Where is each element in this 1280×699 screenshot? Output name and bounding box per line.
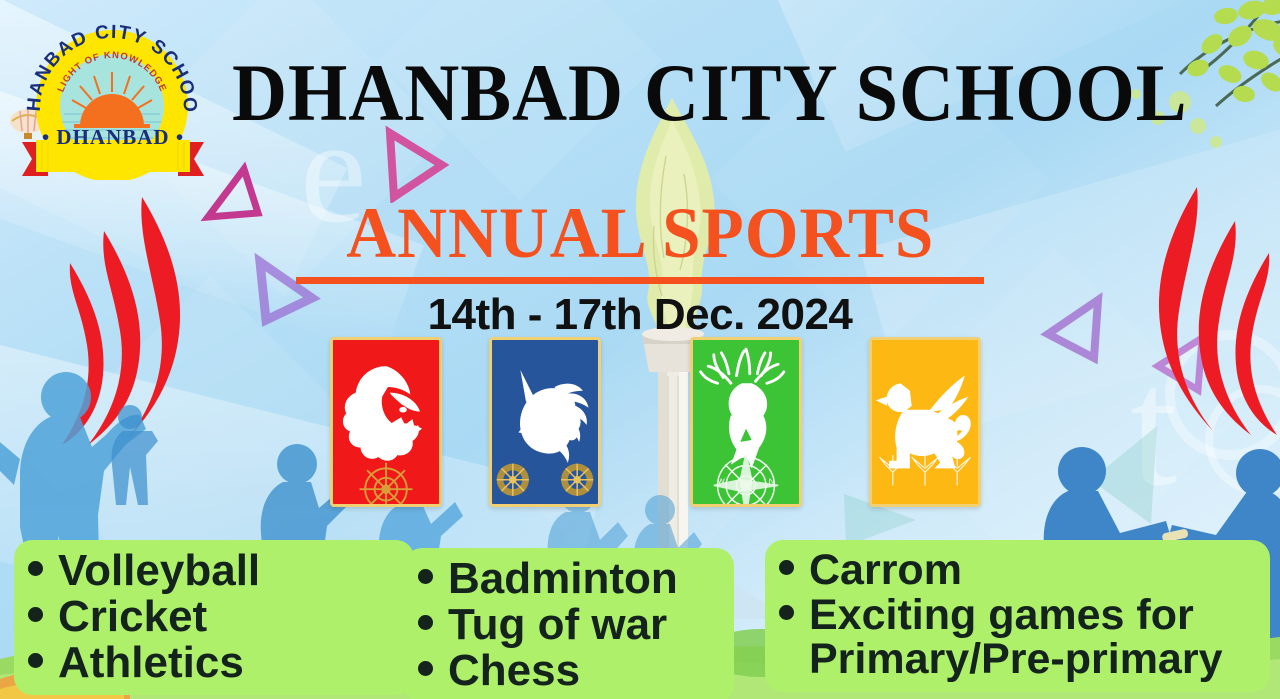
house-banner-lion [330, 337, 442, 507]
bullet-icon [418, 615, 433, 630]
list-item: Volleyball [28, 548, 396, 594]
sport-label: Tug of war [448, 602, 667, 648]
sport-label: Volleyball [58, 548, 260, 594]
bullet-icon [418, 661, 433, 676]
page-title: DHANBAD CITY SCHOOL [45, 52, 1235, 134]
bullet-icon [779, 560, 794, 575]
event-title: ANNUAL SPORTS [346, 196, 934, 270]
sport-label: Chess [448, 648, 580, 694]
sport-label: Carrom [809, 548, 962, 593]
list-item: Chess [418, 648, 716, 694]
list-item: Exciting games for Primary/Pre-primary [779, 593, 1262, 682]
sport-label: Exciting games for Primary/Pre-primary [809, 593, 1262, 682]
tree-icon [880, 455, 971, 485]
event-date: 14th - 17th Dec. 2024 [0, 290, 1280, 340]
list-item: Carrom [779, 548, 1262, 593]
house-banner-griffin [869, 337, 981, 507]
list-item: Athletics [28, 640, 396, 686]
bullet-icon [28, 561, 43, 576]
sport-label: Athletics [58, 640, 244, 686]
stag-icon: W N [693, 340, 799, 504]
house-banners: W N [0, 337, 1280, 512]
house-banner-stag: W N [690, 337, 802, 507]
griffin-icon [872, 340, 978, 504]
bullet-icon [779, 605, 794, 620]
sports-list-left: Volleyball Cricket Athletics [28, 548, 396, 685]
sports-list-middle: Badminton Tug of war Chess [418, 556, 716, 693]
sports-list-right: Carrom Exciting games for Primary/Pre-pr… [779, 548, 1262, 682]
sport-label: Cricket [58, 594, 207, 640]
unicorn-icon [492, 340, 598, 504]
lion-icon [333, 340, 439, 504]
list-item: Tug of war [418, 602, 716, 648]
sport-label: Badminton [448, 556, 678, 602]
event-title-wrap: ANNUAL SPORTS [0, 196, 1280, 270]
svg-text:W: W [718, 477, 726, 486]
event-title-underline [296, 277, 984, 284]
bullet-icon [418, 569, 433, 584]
bullet-icon [28, 653, 43, 668]
bullet-icon [28, 607, 43, 622]
list-item: Cricket [28, 594, 396, 640]
sports-box-middle: Badminton Tug of war Chess [404, 548, 734, 699]
rosette-icon [497, 464, 594, 496]
svg-text:N: N [769, 477, 774, 486]
sports-box-right: Carrom Exciting games for Primary/Pre-pr… [765, 540, 1270, 692]
annual-sports-poster: e t [0, 0, 1280, 699]
sports-box-left: Volleyball Cricket Athletics [14, 540, 414, 695]
house-banner-unicorn [489, 337, 601, 507]
list-item: Badminton [418, 556, 716, 602]
